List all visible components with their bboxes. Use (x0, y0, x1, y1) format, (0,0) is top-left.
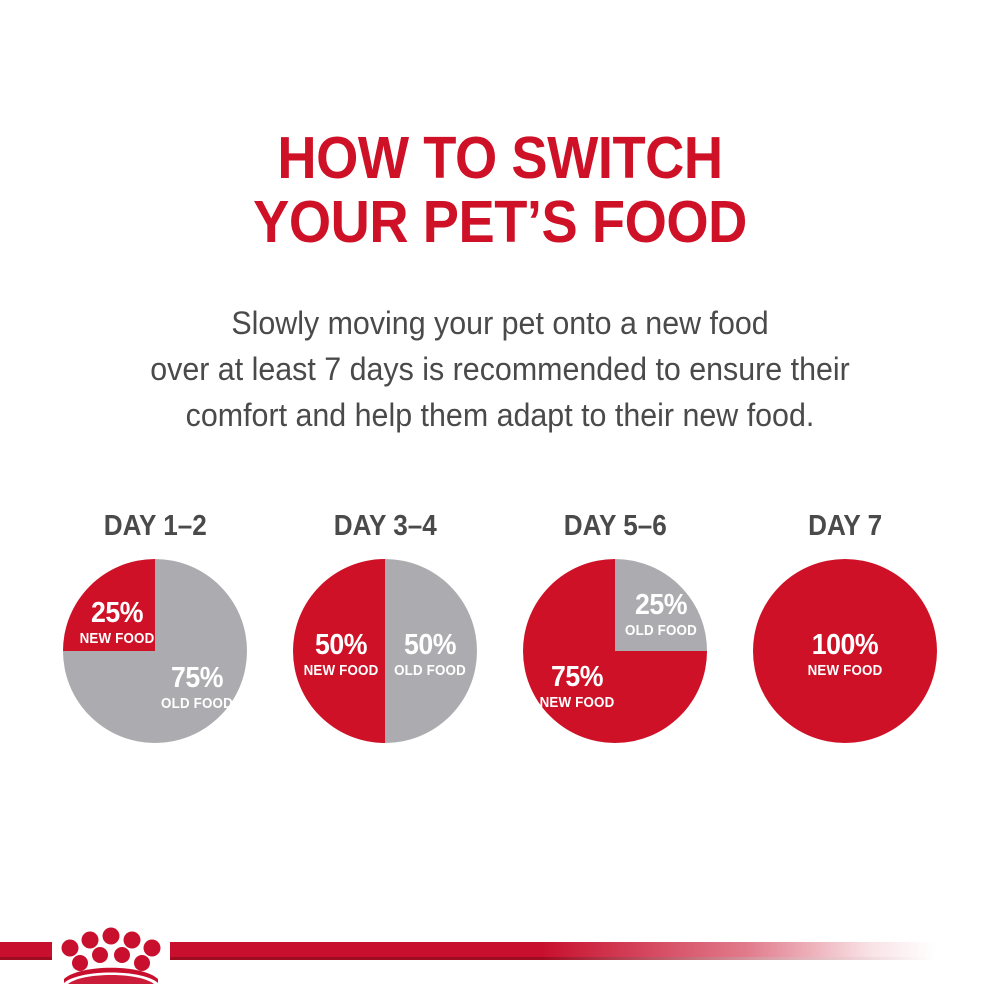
slice-label-old-food-1: 75% OLD FOOD (149, 664, 245, 712)
slice-label-new-food-4: 100% NEW FOOD (795, 631, 895, 679)
slice-name-old-2: OLD FOOD (389, 664, 472, 679)
slice-name-new-3: NEW FOOD (533, 696, 621, 711)
day-label-4: DAY 7 (808, 510, 882, 543)
page-title: HOW TO SWITCH YOUR PET’S FOOD (40, 126, 960, 254)
slice-label-old-food-3: 25% OLD FOOD (615, 591, 707, 639)
slice-percent-new-3: 75% (533, 663, 621, 692)
slice-percent-old-1: 75% (153, 664, 241, 693)
pie-cell-day-7: DAY 7 100% NEW FOOD (730, 510, 960, 743)
slice-name-new-4: NEW FOOD (799, 664, 891, 679)
slice-percent-new-4: 100% (799, 631, 891, 660)
slice-name-old-1: OLD FOOD (153, 697, 241, 712)
slice-label-new-food-1: 25% NEW FOOD (71, 599, 163, 647)
pie-chart-row: DAY 1–2 25% NEW FOOD 75% OLD FOOD DAY 3–… (0, 510, 1000, 743)
slice-percent-new-1: 25% (75, 599, 160, 628)
pie-chart-day-3-4: 50% NEW FOOD 50% OLD FOOD (293, 559, 477, 743)
slice-name-old-3: OLD FOOD (619, 624, 704, 639)
pie-chart-day-5-6: 25% OLD FOOD 75% NEW FOOD (523, 559, 707, 743)
slice-label-new-food-3: 75% NEW FOOD (529, 663, 625, 711)
intro-paragraph: Slowly moving your pet onto a new food o… (25, 300, 975, 438)
pie-cell-day-5-6: DAY 5–6 25% OLD FOOD 75% NEW FOOD (500, 510, 730, 743)
pie-cell-day-1-2: DAY 1–2 25% NEW FOOD 75% OLD FOOD (40, 510, 270, 743)
slice-percent-old-2: 50% (389, 631, 472, 660)
slice-percent-old-3: 25% (619, 591, 704, 620)
slice-percent-new-2: 50% (300, 631, 383, 660)
day-label-3: DAY 5–6 (563, 510, 666, 543)
slice-name-new-1: NEW FOOD (75, 632, 160, 647)
slice-name-new-2: NEW FOOD (300, 664, 383, 679)
royal-canin-crown-icon (52, 922, 170, 984)
slice-label-new-food-2: 50% NEW FOOD (296, 631, 386, 679)
pie-chart-day-1-2: 25% NEW FOOD 75% OLD FOOD (63, 559, 247, 743)
day-label-2: DAY 3–4 (333, 510, 436, 543)
slice-label-old-food-2: 50% OLD FOOD (385, 631, 475, 679)
pie-cell-day-3-4: DAY 3–4 50% NEW FOOD 50% OLD FOOD (270, 510, 500, 743)
page-header: HOW TO SWITCH YOUR PET’S FOOD (0, 126, 1000, 254)
page-footer (0, 930, 1000, 1000)
pie-chart-day-7: 100% NEW FOOD (753, 559, 937, 743)
day-label-1: DAY 1–2 (103, 510, 206, 543)
